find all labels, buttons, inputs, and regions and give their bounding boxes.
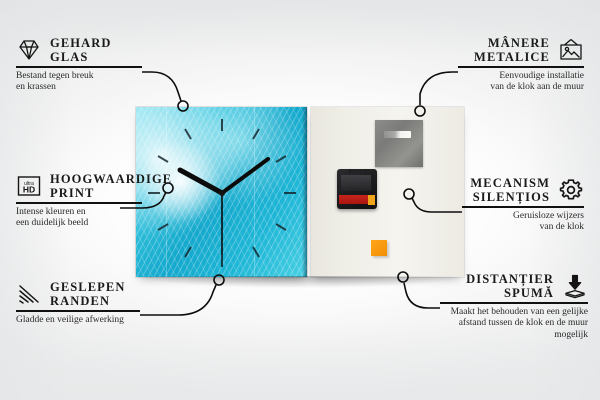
callout-heading-metal-handles: MÂNEREMETALICE xyxy=(458,36,584,64)
clock-hour-hand xyxy=(180,170,222,193)
clock-back-panel xyxy=(311,107,464,277)
silent-quartz-mechanism xyxy=(337,169,377,209)
product-infographic: GEHARDGLAS Bestand tegen breuken krassen… xyxy=(0,0,600,400)
callout-hd-print: ultra HD HOOGWAARDIGEPRINT Intense kleur… xyxy=(16,172,142,230)
callout-title-metal-handles: MÂNEREMETALICE xyxy=(474,36,550,64)
battery-terminal xyxy=(368,195,375,205)
clock-minute-hand xyxy=(222,159,268,193)
callout-desc-silent-mechanism: Geruisloze wijzersvan de klok xyxy=(462,211,584,234)
callout-desc-metal-handles: Eenvoudige installatievan de klok aan de… xyxy=(458,71,584,94)
callout-rule-metal-handles xyxy=(458,66,584,68)
product-photo xyxy=(136,107,464,277)
callout-metal-handles: MÂNEREMETALICE Eenvoudige installatievan… xyxy=(458,36,584,94)
callout-title-hd-print: HOOGWAARDIGEPRINT xyxy=(50,172,172,200)
callout-ground-edges: GESLEPENRANDEN Gladde en veilige afwerki… xyxy=(16,280,140,326)
callout-heading-ground-edges: GESLEPENRANDEN xyxy=(16,280,140,308)
callout-rule-hd-print xyxy=(16,202,142,204)
callout-rule-tempered-glass xyxy=(16,66,142,68)
callout-desc-foam-spacer: Maakt het behouden van een gelijkeafstan… xyxy=(440,307,588,342)
orange-foam-spacer xyxy=(371,240,387,256)
connector-ground-edges xyxy=(140,285,216,315)
callout-rule-silent-mechanism xyxy=(462,206,584,208)
ultra-hd-icon: ultra HD xyxy=(16,173,42,199)
callout-heading-hd-print: ultra HD HOOGWAARDIGEPRINT xyxy=(16,172,142,200)
connector-metal-handles xyxy=(420,72,458,105)
callout-rule-ground-edges xyxy=(16,310,140,312)
callout-heading-tempered-glass: GEHARDGLAS xyxy=(16,36,142,64)
callout-title-silent-mechanism: MECANISMSILENȚIOS xyxy=(470,176,550,204)
callout-silent-mechanism: MECANISMSILENȚIOS Geruisloze wijzersvan … xyxy=(462,176,584,234)
callout-rule-foam-spacer xyxy=(440,302,588,304)
callout-heading-foam-spacer: DISTANȚIERSPUMĂ xyxy=(440,272,588,300)
callout-heading-silent-mechanism: MECANISMSILENȚIOS xyxy=(462,176,584,204)
diamond-icon xyxy=(16,37,42,63)
mechanism-hang-tab xyxy=(349,169,366,173)
hanging-picture-icon xyxy=(558,37,584,63)
metal-hanger-plate xyxy=(375,120,423,167)
callout-desc-ground-edges: Gladde en veilige afwerking xyxy=(16,315,140,327)
hanger-keyhole-slot xyxy=(384,131,411,138)
product-drop-shadow xyxy=(140,276,462,288)
spacer-arrow-icon xyxy=(562,273,588,299)
callout-title-foam-spacer: DISTANȚIERSPUMĂ xyxy=(466,272,554,300)
callout-title-ground-edges: GESLEPENRANDEN xyxy=(50,280,126,308)
clock-center-cap xyxy=(219,190,225,196)
svg-text:HD: HD xyxy=(23,185,35,195)
bevel-lines-icon xyxy=(16,281,42,307)
callout-desc-tempered-glass: Bestand tegen breuken krassen xyxy=(16,71,142,94)
callout-tempered-glass: GEHARDGLAS Bestand tegen breuken krassen xyxy=(16,36,142,94)
gear-icon xyxy=(558,177,584,203)
callout-desc-hd-print: Intense kleuren eneen duidelijk beeld xyxy=(16,207,142,230)
mechanism-body-detail xyxy=(341,175,371,191)
connector-tempered-glass xyxy=(142,72,181,101)
callout-foam-spacer: DISTANȚIERSPUMĂ Maakt het behouden van e… xyxy=(440,272,588,341)
callout-title-tempered-glass: GEHARDGLAS xyxy=(50,36,111,64)
